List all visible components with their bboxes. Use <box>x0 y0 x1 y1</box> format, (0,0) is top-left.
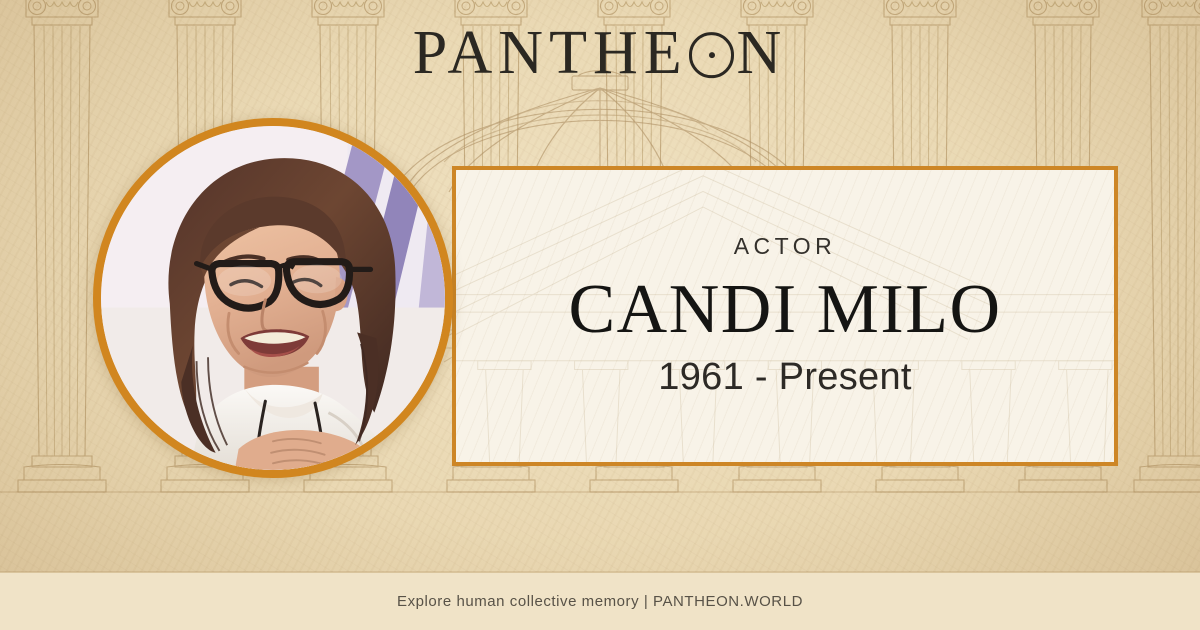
brand-title-prefix: PANTHE <box>413 22 688 84</box>
portrait-photo <box>101 126 445 470</box>
card-content: ACTOR CANDI MILO 1961 - Present <box>456 233 1114 398</box>
person-info-card: ACTOR CANDI MILO 1961 - Present <box>452 166 1118 466</box>
page-title: PANTHEN <box>413 22 788 84</box>
footer-tagline[interactable]: Explore human collective memory | PANTHE… <box>397 593 803 610</box>
occupation-label: ACTOR <box>456 233 1114 260</box>
lifespan-label: 1961 - Present <box>456 356 1114 399</box>
social-card-canvas: PANTHEN <box>0 0 1200 630</box>
oculus-o-icon <box>689 32 735 78</box>
brand-title-container: PANTHEN <box>0 22 1200 84</box>
avatar[interactable] <box>93 118 453 478</box>
brand-title-suffix: N <box>736 22 787 84</box>
footer-bar: Explore human collective memory | PANTHE… <box>0 572 1200 630</box>
person-name: CANDI MILO <box>456 274 1114 345</box>
